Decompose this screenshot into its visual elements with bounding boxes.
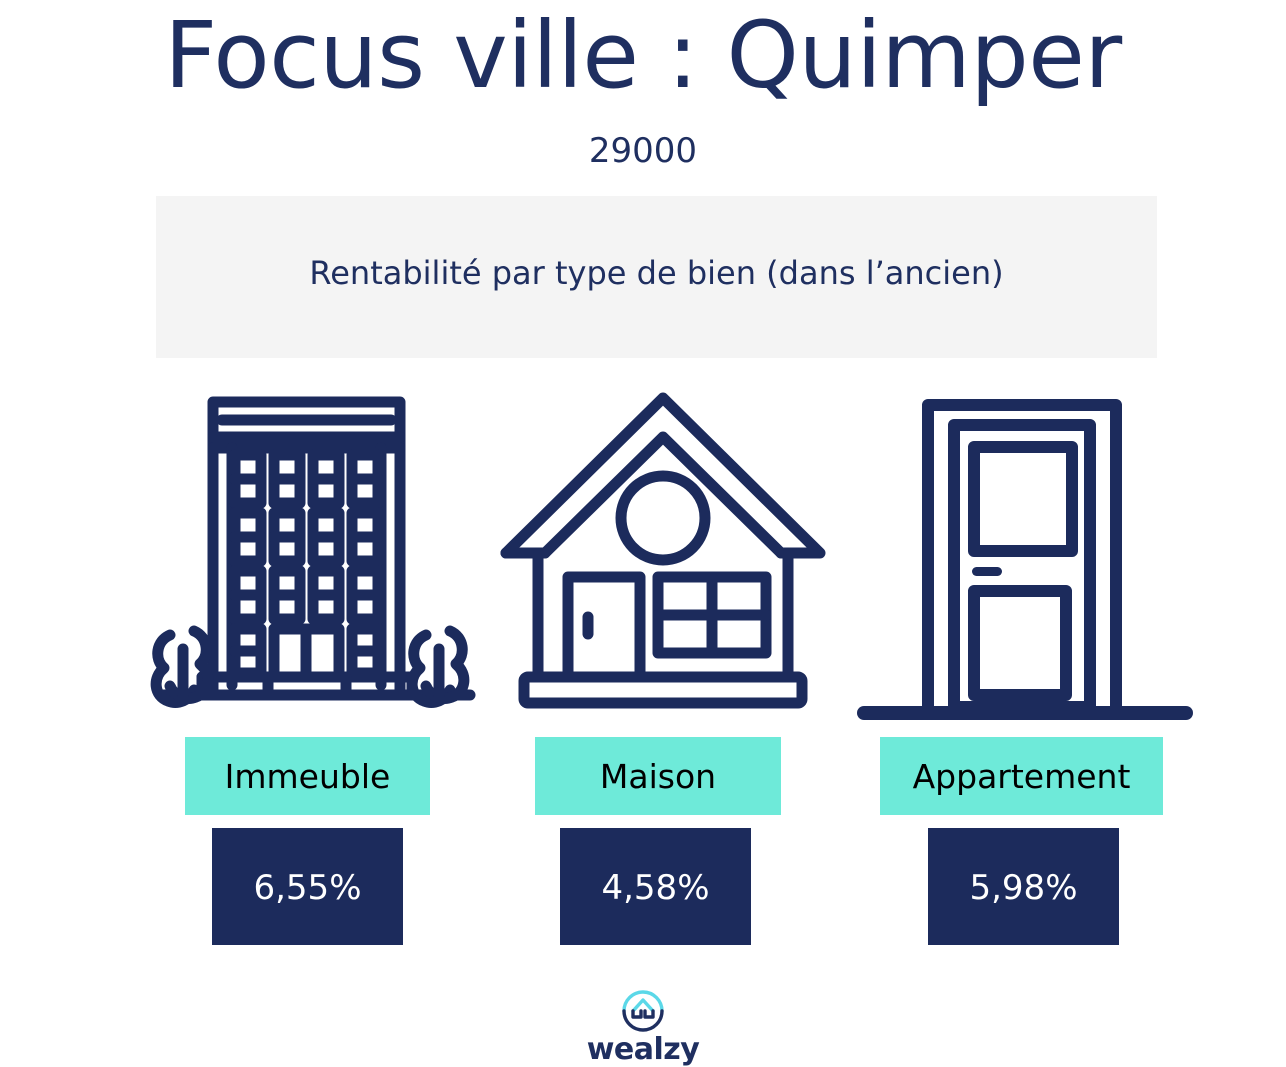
banner-heading: Rentabilité par type de bien (dans l’anc… (156, 254, 1157, 292)
value-box-maison: 4,58% (560, 828, 751, 945)
section-banner: Rentabilité par type de bien (dans l’anc… (156, 196, 1157, 358)
brand-wordmark: wealzy (587, 1035, 700, 1065)
value-text-immeuble: 6,55% (253, 828, 361, 905)
postal-code: 29000 (0, 133, 1286, 170)
label-box-immeuble: Immeuble (185, 737, 430, 815)
house-icon (498, 385, 828, 715)
door-icon (850, 385, 1200, 715)
label-text-appartement: Appartement (913, 760, 1131, 793)
brand-logo: wealzy (0, 985, 1286, 1065)
wealzy-house-circle-logo-icon (617, 985, 669, 1033)
infographic-page: Focus ville : Quimper 29000 Rentabilité … (0, 0, 1286, 1066)
value-box-appartement: 5,98% (928, 828, 1119, 945)
building-icon-graphic (150, 385, 480, 715)
column-immeuble (150, 385, 480, 715)
label-text-maison: Maison (600, 760, 716, 793)
door-icon-graphic (850, 385, 1200, 735)
column-maison (498, 385, 828, 715)
value-box-immeuble: 6,55% (212, 828, 403, 945)
value-text-appartement: 5,98% (969, 828, 1077, 905)
label-box-appartement: Appartement (880, 737, 1163, 815)
building-icon (150, 385, 480, 715)
page-title: Focus ville : Quimper (0, 8, 1286, 105)
value-text-maison: 4,58% (601, 828, 709, 905)
house-icon-graphic (498, 385, 828, 715)
label-box-maison: Maison (535, 737, 781, 815)
label-text-immeuble: Immeuble (225, 760, 391, 793)
column-appartement (850, 385, 1200, 715)
